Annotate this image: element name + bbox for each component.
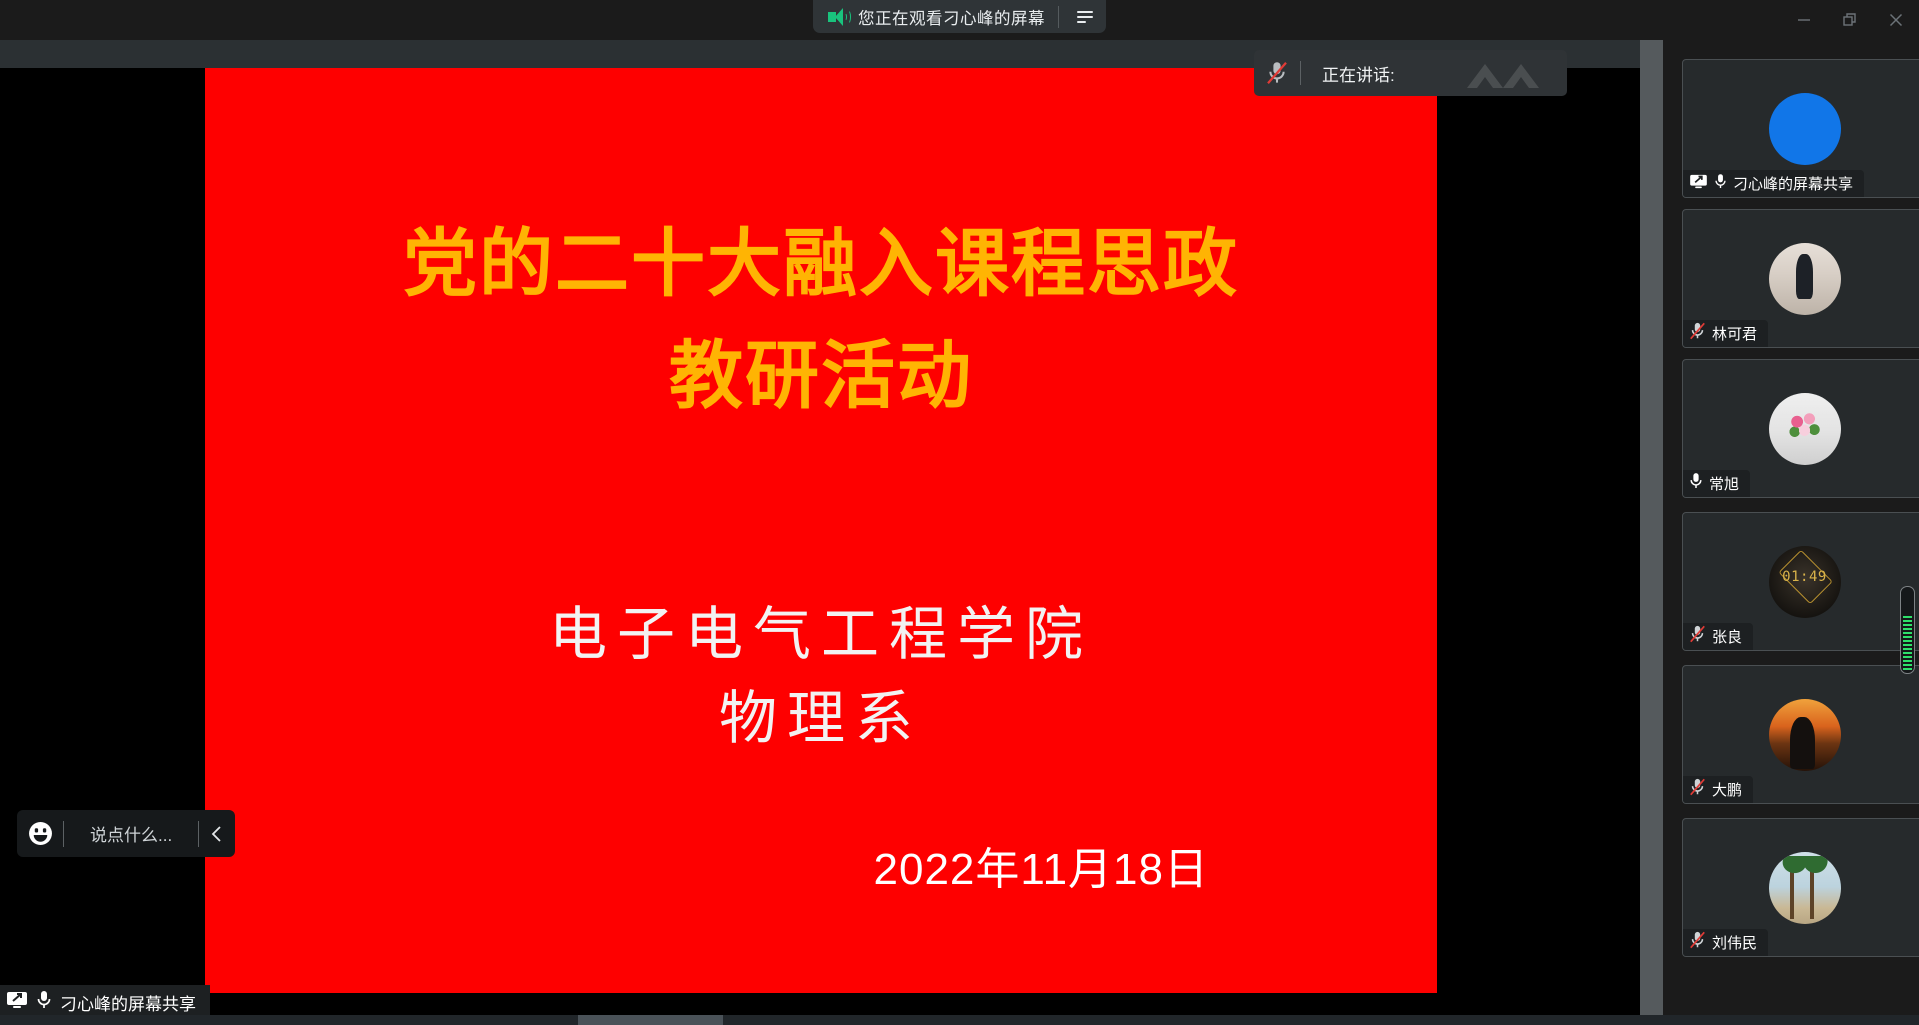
participant-sidebar: 刁心峰的屏幕共享 林可君	[1640, 40, 1919, 1025]
volume-level-meter	[1900, 586, 1915, 674]
participant-name: 林可君	[1712, 323, 1757, 344]
microphone-icon	[1714, 173, 1727, 195]
chat-input-placeholder[interactable]: 说点什么...	[64, 821, 198, 846]
participant-namebar-0: 刁心峰的屏幕共享	[1683, 170, 1864, 197]
presenter-tag: 刁心峰的屏幕共享	[0, 985, 210, 1019]
slide-title-line2: 教研活动	[205, 320, 1437, 432]
shared-screen-stage[interactable]: 党的二十大融入课程思政 教研活动 电子电气工程学院 物理系 2022年11月18…	[0, 40, 1640, 1025]
microphone-muted-icon	[1689, 778, 1706, 801]
windows-taskbar[interactable]	[0, 1015, 1919, 1025]
hamburger-menu-icon[interactable]	[1070, 0, 1104, 33]
window-controls	[1781, 0, 1919, 40]
presenter-name: 刁心峰的屏幕共享	[60, 990, 196, 1015]
participant-tile-1[interactable]: 林可君	[1682, 209, 1919, 348]
palm-beach-avatar	[1769, 852, 1841, 924]
share-banner-text: 您正在观看刁心峰的屏幕	[858, 5, 1045, 29]
green-speaker-icon	[827, 6, 849, 28]
slide-org-line1: 电子电气工程学院	[205, 593, 1437, 677]
watch-face-avatar: 01:49	[1769, 546, 1841, 618]
microphone-muted-icon	[1689, 322, 1706, 345]
presentation-slide: 党的二十大融入课程思政 教研活动 电子电气工程学院 物理系 2022年11月18…	[205, 68, 1437, 993]
smiley-face-icon[interactable]	[17, 821, 63, 846]
participant-name: 常旭	[1709, 473, 1739, 494]
speaking-label: 正在讲话:	[1301, 61, 1395, 86]
title-bar: 您正在观看刁心峰的屏幕	[0, 0, 1919, 40]
share-status-banner[interactable]: 您正在观看刁心峰的屏幕	[813, 0, 1106, 33]
slide-title-line1: 党的二十大融入课程思政	[205, 208, 1437, 320]
slide-org-line2: 物理系	[205, 677, 1437, 761]
flower-bouquet-avatar	[1769, 393, 1841, 465]
screen-share-icon	[1689, 174, 1708, 194]
participant-tile-2[interactable]: 常旭	[1682, 359, 1919, 498]
microphone-icon	[36, 990, 52, 1015]
banner-divider	[1058, 6, 1059, 28]
participant-tile-0[interactable]: 刁心峰的屏幕共享	[1682, 59, 1919, 198]
participant-namebar-1: 林可君	[1683, 320, 1768, 347]
participant-name: 大鹏	[1712, 779, 1742, 800]
microphone-muted-icon	[1689, 931, 1706, 954]
chevron-watermark-icon	[1449, 54, 1559, 94]
participant-namebar-2: 常旭	[1683, 470, 1750, 497]
microphone-muted-icon	[1254, 61, 1300, 85]
speaking-overlay: 正在讲话:	[1254, 50, 1567, 96]
slide-date: 2022年11月18日	[874, 833, 1210, 897]
slide-organization: 电子电气工程学院 物理系	[205, 593, 1437, 761]
screen-share-icon	[6, 991, 28, 1014]
minimize-button[interactable]	[1781, 0, 1827, 40]
participant-namebar-4: 大鹏	[1683, 776, 1753, 803]
participant-list[interactable]: 刁心峰的屏幕共享 林可君	[1663, 40, 1919, 1025]
participant-name: 张良	[1712, 626, 1742, 647]
participant-tile-5[interactable]: 刘伟民	[1682, 818, 1919, 957]
microphone-muted-icon	[1689, 625, 1706, 648]
participant-name: 刁心峰的屏幕共享	[1733, 173, 1853, 194]
meeting-window: 您正在观看刁心峰的屏幕	[0, 0, 1919, 1025]
blue-circle-avatar	[1769, 93, 1841, 165]
participant-tile-3[interactable]: 01:49 张良	[1682, 512, 1919, 651]
chat-input-bar[interactable]: 说点什么...	[17, 810, 235, 857]
participant-name: 刘伟民	[1712, 932, 1757, 953]
chevron-left-icon[interactable]	[199, 810, 235, 857]
participant-namebar-3: 张良	[1683, 623, 1753, 650]
participant-namebar-5: 刘伟民	[1683, 929, 1768, 956]
restore-button[interactable]	[1827, 0, 1873, 40]
close-button[interactable]	[1873, 0, 1919, 40]
slide-title: 党的二十大融入课程思政 教研活动	[205, 208, 1437, 433]
watch-face-time: 01:49	[1769, 569, 1841, 585]
child-photo-avatar	[1769, 243, 1841, 315]
microphone-icon	[1689, 472, 1703, 495]
sunset-portrait-avatar	[1769, 699, 1841, 771]
participant-tile-4[interactable]: 大鹏	[1682, 665, 1919, 804]
taskbar-active-item[interactable]	[578, 1015, 723, 1025]
